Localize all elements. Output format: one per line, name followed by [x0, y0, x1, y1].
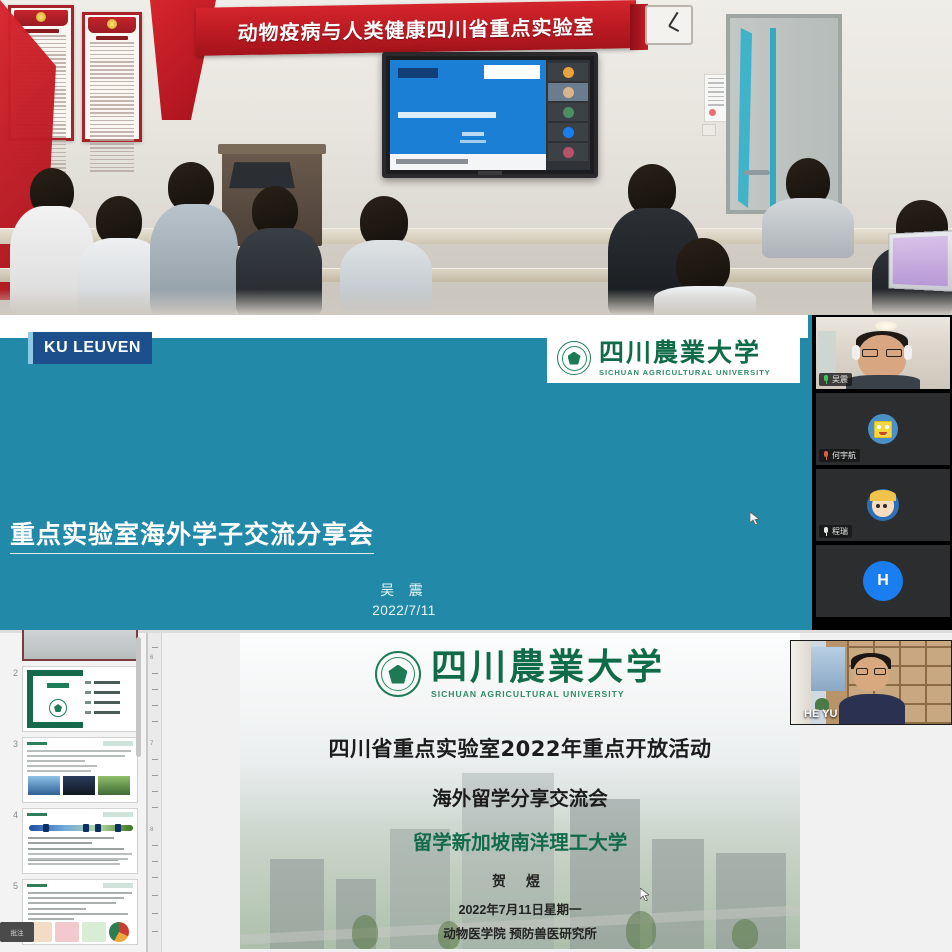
audience-body [762, 198, 854, 258]
ruler-label: 8 [150, 827, 153, 833]
participant-name: 程瑞 [832, 526, 848, 537]
door-handle [744, 170, 770, 175]
poster-title-bar [23, 29, 59, 33]
participant-nametag: HE YU [795, 707, 837, 721]
sau-logo-zh: 四川農業大学 [431, 649, 665, 685]
slide-thumbnail-2[interactable] [22, 666, 138, 732]
notice-stamp [709, 109, 716, 116]
shared-slide-date: 2022/7/11 [0, 603, 808, 618]
mouse-cursor-lower [640, 888, 649, 901]
participant-name: 何宇航 [832, 450, 856, 461]
sau-crest-icon [557, 341, 591, 375]
thumbnail-row[interactable]: 4 [6, 808, 146, 874]
slide-thumbnail-5[interactable] [22, 879, 138, 945]
slide-thumbnail-4[interactable] [22, 808, 138, 874]
classroom-tv [382, 52, 598, 178]
thumbnail-row[interactable]: 3 [6, 737, 146, 803]
shared-slide-author: 吴 震 [0, 580, 808, 600]
participant-tile-1[interactable]: 何宇航 [816, 393, 950, 465]
mouse-cursor-upper [750, 512, 759, 525]
sau-crest-icon [375, 651, 421, 697]
sau-logo-top: 四川農業大学 SICHUAN AGRICULTURAL UNIVERSITY [547, 333, 800, 383]
wall-clock-icon [645, 5, 693, 45]
door-notice [704, 74, 728, 122]
slide-thumbnail-3[interactable] [22, 737, 138, 803]
ku-leuven-logo: KU LEUVEN [28, 332, 152, 364]
classroom-photo: 动物疫病与人类健康四川省重点实验室 [0, 0, 952, 315]
participant-nametag: 吴震 [819, 373, 852, 386]
participant-tile-3[interactable]: H [816, 545, 950, 617]
slide-thumbnail-pane[interactable]: 1 2 [0, 633, 146, 952]
microphone-icon [823, 375, 829, 384]
slide-presenter: 贺 煜 [240, 871, 800, 891]
lab-banner: 动物疫病与人类健康四川省重点实验室 [196, 0, 636, 56]
slide-thumbnail-1[interactable] [22, 630, 138, 661]
participant-nametag: 何宇航 [819, 449, 860, 462]
poster-title-bar [96, 36, 128, 40]
sau-logo-zh: 四川農業大学 [599, 340, 771, 365]
participant-nametag: 程瑞 [819, 525, 852, 538]
thumbnail-number: 3 [6, 737, 18, 749]
slide-department: 动物医学院 预防兽医研究所 [240, 923, 800, 942]
slide-line-2: 海外留学分享交流会 [240, 782, 800, 811]
participant-tile-0[interactable]: 吴震 [816, 317, 950, 389]
current-slide[interactable]: 四川農業大学 SICHUAN AGRICULTURAL UNIVERSITY 四… [240, 633, 800, 949]
photo-bottom-fade [0, 289, 952, 315]
wall-poster-2 [82, 12, 142, 142]
slide-date: 2022年7月11日星期一 [240, 899, 800, 918]
thumbnail-row[interactable]: 2 [6, 666, 146, 732]
microphone-muted-icon [823, 451, 829, 460]
sau-logo-en: SICHUAN AGRICULTURAL UNIVERSITY [431, 689, 665, 699]
microphone-icon [795, 710, 801, 719]
cartoon-girl-avatar-icon [867, 489, 899, 521]
sau-crest-icon [49, 699, 67, 717]
participant-tile-4[interactable]: HE YU [790, 640, 952, 725]
microphone-icon [823, 527, 829, 536]
strip-edge-rail [808, 315, 812, 630]
initial-avatar-icon: H [863, 561, 903, 601]
vertical-ruler: 6 7 8 [148, 633, 162, 952]
participant-name: 吴震 [832, 374, 848, 385]
sau-logo-en: SICHUAN AGRICULTURAL UNIVERSITY [599, 368, 771, 377]
thumbnail-number: 2 [6, 666, 18, 678]
pie-chart-thumb [109, 922, 129, 942]
thumbnail-number: 4 [6, 808, 18, 820]
participant-strip[interactable]: 吴震 何宇航 程瑞 H [808, 315, 952, 630]
spongebob-avatar-icon [868, 414, 898, 444]
ruler-label: 6 [150, 655, 153, 661]
lab-banner-text: 动物疫病与人类健康四川省重点实验室 [238, 10, 595, 45]
shared-screen-slide[interactable]: KU LEUVEN 四川農業大学 SICHUAN AGRICULTURAL UN… [0, 315, 808, 630]
participant-tile-2[interactable]: 程瑞 [816, 469, 950, 541]
thumbnail-number: 5 [6, 879, 18, 891]
audience-laptop [888, 230, 952, 292]
screen-root: 动物疫病与人类健康四川省重点实验室 [0, 0, 952, 952]
light-switch [702, 124, 716, 136]
poster-emblem [88, 17, 136, 33]
thumbnail-scrollbar[interactable] [136, 637, 141, 757]
participant-name: HE YU [804, 708, 837, 720]
participant-avatar: H [816, 545, 950, 617]
poster-text-lines [85, 42, 139, 172]
slide-line-3: 留学新加坡南洋理工大学 [240, 826, 800, 855]
poster-emblem [14, 10, 68, 26]
ruler-label: 7 [150, 741, 153, 747]
ku-leuven-logo-text: KU LEUVEN [44, 339, 141, 357]
shared-slide-title: 重点实验室海外学子交流分享会 [10, 515, 374, 554]
thumbnail-row[interactable]: 1 [6, 630, 146, 661]
slide-line-1: 四川省重点实验室2022年重点开放活动 [240, 733, 800, 763]
sau-logo-slide: 四川農業大学 SICHUAN AGRICULTURAL UNIVERSITY [240, 649, 800, 699]
comments-button[interactable]: 批注 [0, 922, 34, 942]
lectern-laptop [229, 162, 295, 188]
